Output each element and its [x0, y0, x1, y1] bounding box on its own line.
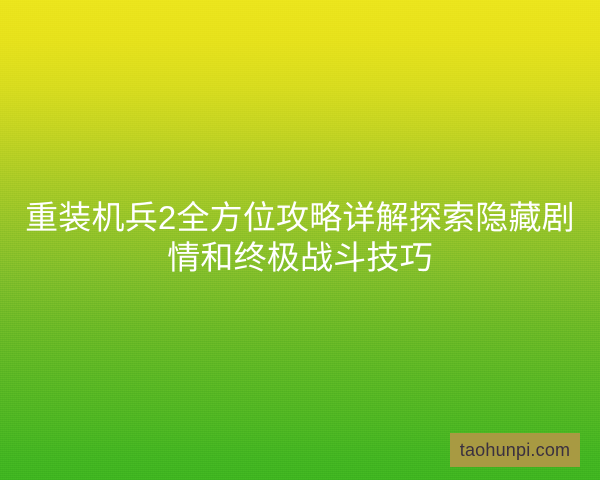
page-title: 重装机兵2全方位攻略详解探索隐藏剧情和终极战斗技巧 [0, 198, 600, 278]
poster-image: 重装机兵2全方位攻略详解探索隐藏剧情和终极战斗技巧 taohunpi.com [0, 0, 600, 480]
watermark-badge: taohunpi.com [450, 433, 580, 467]
watermark-site-label: taohunpi.com [460, 441, 570, 459]
